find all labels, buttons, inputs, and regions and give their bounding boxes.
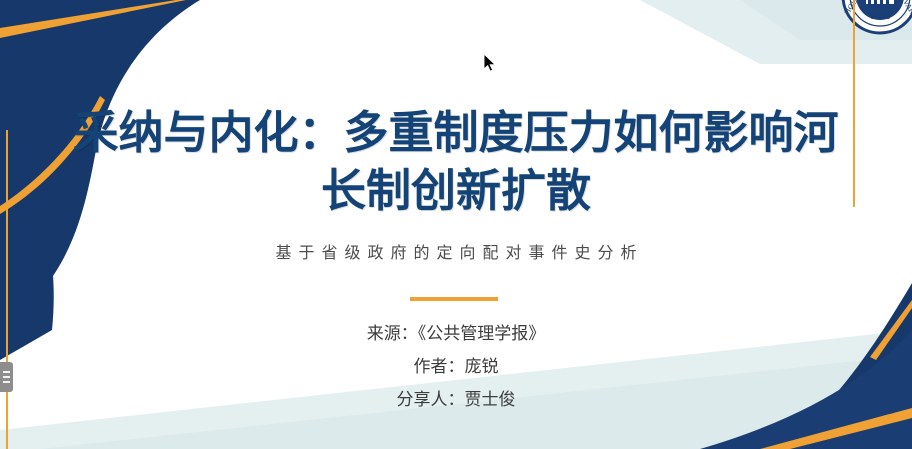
slide-title: 采纳与内化：多重制度压力如何影响河 长制创新扩散: [28, 104, 884, 220]
credit-source: 来源：《公共管理学报》: [0, 318, 912, 351]
slide-title-line-1: 采纳与内化：多重制度压力如何影响河: [28, 104, 884, 162]
slide-credits: 来源：《公共管理学报》 作者：庞锐 分享人：贾士俊: [0, 318, 912, 417]
credit-presenter: 分享人：贾士俊: [0, 384, 912, 417]
presentation-slide: 1902 HOU VAR 采纳与内化：多重制度压力如何影响河 长制创新扩散 基于…: [0, 0, 912, 449]
slide-subtitle: 基于省级政府的定向配对事件史分析: [0, 239, 912, 263]
credit-author: 作者：庞锐: [0, 351, 912, 384]
mouse-pointer-icon: [484, 54, 498, 74]
slide-content: 采纳与内化：多重制度压力如何影响河 长制创新扩散 基于省级政府的定向配对事件史分…: [0, 0, 912, 449]
slide-title-line-2: 长制创新扩散: [28, 162, 884, 220]
orange-divider-rule: [410, 297, 498, 301]
